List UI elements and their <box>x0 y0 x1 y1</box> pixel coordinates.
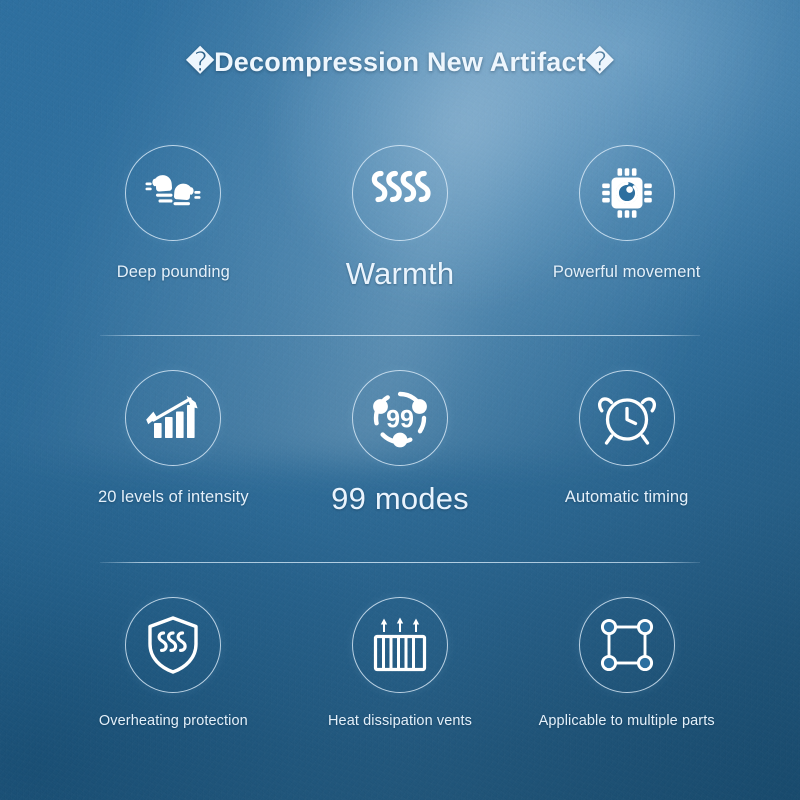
icon-ring: 99 <box>352 370 448 466</box>
feature-label: Powerful movement <box>553 263 701 282</box>
feature-label: Automatic timing <box>565 488 689 507</box>
feature-label: Warmth <box>346 256 455 292</box>
network-nodes-99-icon: 99 <box>368 386 432 450</box>
icon-ring <box>579 597 675 693</box>
icon-ring <box>352 145 448 241</box>
icon-ring <box>352 597 448 693</box>
feature-overheating-protection: Overheating protection <box>60 597 287 729</box>
feature-automatic-timing: Automatic timing <box>513 370 740 517</box>
alarm-clock-icon <box>597 389 657 447</box>
icon-ring <box>125 370 221 466</box>
feature-row-1: Deep pounding Warmth <box>60 145 740 292</box>
punching-fists-icon <box>142 167 204 219</box>
feature-deep-pounding: Deep pounding <box>60 145 287 292</box>
icon-ring <box>579 145 675 241</box>
feature-warmth: Warmth <box>287 145 514 292</box>
feature-powerful-movement: Powerful movement <box>513 145 740 292</box>
shield-heat-icon <box>145 615 201 675</box>
icon-ring <box>125 597 221 693</box>
heat-waves-icon <box>370 167 430 219</box>
icon-ring <box>125 145 221 241</box>
cpu-chip-icon <box>598 164 656 222</box>
feature-row-3: Overheating protection <box>60 597 740 729</box>
radiator-vents-icon <box>370 616 430 674</box>
feature-label: Applicable to multiple parts <box>539 713 715 729</box>
page-title: �Decompression New Artifact� <box>0 47 800 78</box>
modes-count-text: 99 <box>386 406 414 434</box>
square-four-nodes-icon <box>599 617 655 673</box>
icon-ring <box>579 370 675 466</box>
bar-chart-arrow-icon <box>145 393 201 443</box>
divider-row1-row2 <box>100 335 700 336</box>
feature-intensity-levels: 20 levels of intensity <box>60 370 287 517</box>
feature-label: Deep pounding <box>117 263 230 282</box>
product-feature-poster: �Decompression New Artifact� <box>0 0 800 800</box>
feature-row-2: 20 levels of intensity 99 99 modes <box>60 370 740 517</box>
divider-row2-row3 <box>100 562 700 563</box>
feature-multiple-parts: Applicable to multiple parts <box>513 597 740 729</box>
feature-99-modes: 99 99 modes <box>287 370 514 517</box>
feature-label: Overheating protection <box>99 713 248 729</box>
feature-label: 99 modes <box>331 481 469 517</box>
feature-label: Heat dissipation vents <box>328 713 472 729</box>
feature-label: 20 levels of intensity <box>98 488 249 507</box>
feature-heat-dissipation-vents: Heat dissipation vents <box>287 597 514 729</box>
